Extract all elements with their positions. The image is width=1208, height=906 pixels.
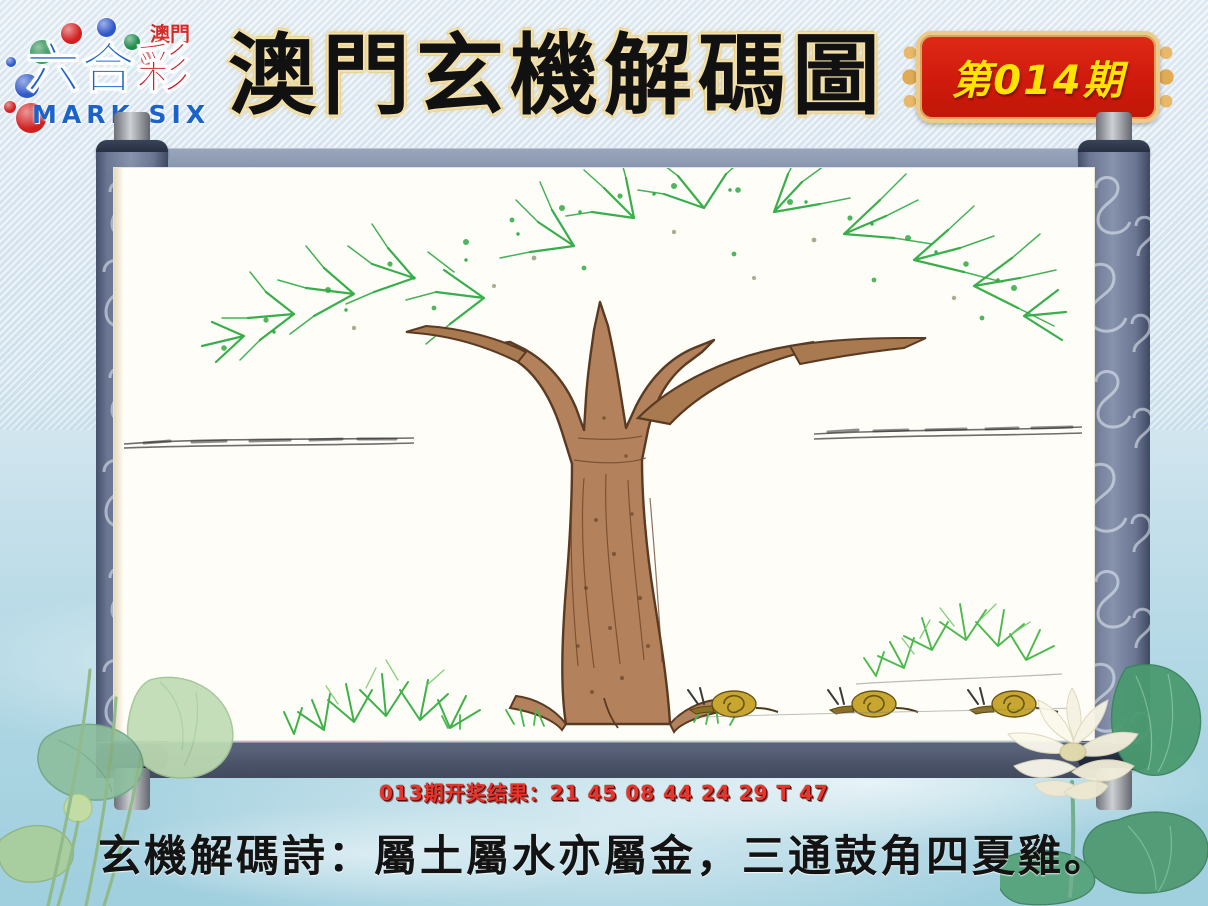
draw-result-line: 013期开奖结果：21 45 08 44 24 29 T 47 [0,777,1208,806]
mark-six-logo[interactable]: 澳門 六合彩 MARK SIX [4,4,224,130]
scroll-bar-bottom [96,742,1112,778]
tree-trunk [406,302,926,732]
right-bush-ground [856,674,1062,684]
issue-badge-label: 第014期 [920,35,1156,119]
page-root: 澳門 六合彩 MARK SIX 澳門玄機解碼圖 第014期 [0,0,1208,906]
poem-text: 屬土屬水亦屬金，三通鼓角四夏雞。 [374,832,1110,882]
poem-label: 玄機解碼詩： [98,832,374,882]
foliage-dark-speckle [352,230,956,330]
tree-foliage [202,168,1066,362]
draw-result-numbers: 21 45 08 44 24 29 T 47 [550,781,829,805]
issue-badge-plate: 第014期 [916,31,1160,123]
logo-char-2: 合 [81,37,136,100]
snail-3 [968,688,1058,717]
right-bush-detail [902,604,1030,654]
lottery-ball-6 [6,57,16,67]
lottery-ball-8 [4,101,16,113]
issue-badge[interactable]: 第014期 [893,31,1183,123]
foliage-speckle [221,183,1017,351]
poem-line: 玄機解碼詩：屬土屬水亦屬金，三通鼓角四夏雞。 [0,822,1208,884]
logo-chinese-name: 六合彩 [26,42,224,96]
scroll-cap-bottom-left [96,744,168,770]
draw-result-label: 013期开奖结果： [379,781,550,805]
scroll-paper-canvas [114,168,1094,740]
lottery-ball-2 [97,18,116,37]
paper-inner-shadow [114,168,124,740]
logo-char-1: 六 [26,37,81,100]
logo-char-3: 彩 [136,37,191,100]
scroll-cap-bottom-right [1078,744,1150,770]
right-bush [864,604,1054,676]
tree-illustration [114,168,1094,740]
left-grass-tuft [284,674,480,734]
page-title: 澳門玄機解碼圖 [228,22,888,132]
snail-group [674,688,1074,718]
